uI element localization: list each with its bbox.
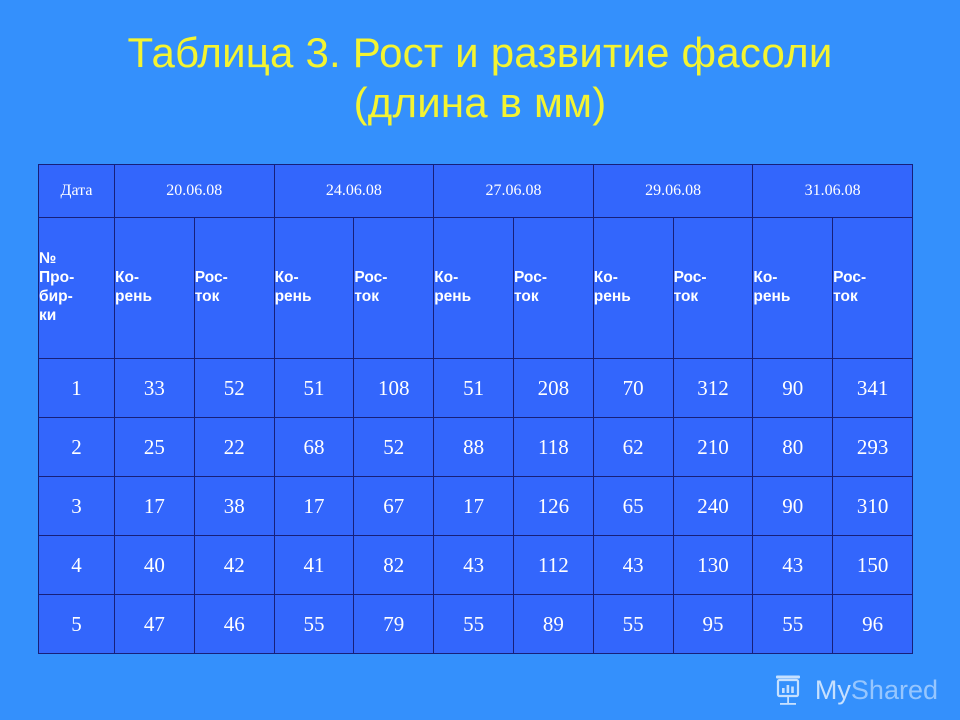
- data-cell-id: 4: [39, 536, 115, 595]
- data-cell: 62: [593, 418, 673, 477]
- data-cell: 40: [115, 536, 195, 595]
- data-cell: 88: [434, 418, 514, 477]
- data-cell: 150: [833, 536, 913, 595]
- data-cell: 55: [593, 595, 673, 654]
- data-cell: 310: [833, 477, 913, 536]
- data-cell: 46: [194, 595, 274, 654]
- data-cell: 41: [274, 536, 354, 595]
- data-cell: 51: [274, 359, 354, 418]
- data-cell: 52: [194, 359, 274, 418]
- watermark-label: MyShared: [815, 675, 938, 706]
- data-cell-id: 2: [39, 418, 115, 477]
- data-cell: 89: [513, 595, 593, 654]
- data-cell: 90: [753, 359, 833, 418]
- watermark-text-primary: My: [815, 675, 851, 705]
- data-cell: 112: [513, 536, 593, 595]
- data-cell: 55: [274, 595, 354, 654]
- table-row: 5 47 46 55 79 55 89 55 95 55 96: [39, 595, 913, 654]
- data-cell: 65: [593, 477, 673, 536]
- subheader-cell-5: Ко- рень: [434, 218, 514, 359]
- data-cell-id: 5: [39, 595, 115, 654]
- subheader-cell-1: Ко- рень: [115, 218, 195, 359]
- data-cell: 208: [513, 359, 593, 418]
- data-cell-id: 1: [39, 359, 115, 418]
- table-row: 2 25 22 68 52 88 118 62 210 80 293: [39, 418, 913, 477]
- data-cell: 51: [434, 359, 514, 418]
- data-cell: 67: [354, 477, 434, 536]
- table-row: 3 17 38 17 67 17 126 65 240 90 310: [39, 477, 913, 536]
- subheader-cell-7: Ко- рень: [593, 218, 673, 359]
- data-cell: 52: [354, 418, 434, 477]
- data-cell: 43: [434, 536, 514, 595]
- data-cell: 22: [194, 418, 274, 477]
- data-cell: 130: [673, 536, 753, 595]
- table-row: 4 40 42 41 82 43 112 43 130 43 150: [39, 536, 913, 595]
- subheader-cell-8: Рос- ток: [673, 218, 753, 359]
- data-cell: 17: [115, 477, 195, 536]
- data-cell: 33: [115, 359, 195, 418]
- data-cell: 90: [753, 477, 833, 536]
- data-cell: 42: [194, 536, 274, 595]
- data-cell: 210: [673, 418, 753, 477]
- data-cell: 68: [274, 418, 354, 477]
- data-cell: 55: [434, 595, 514, 654]
- subheader-cell-row-label: № Про- бир- ки: [39, 218, 115, 359]
- subheader-cell-6: Рос- ток: [513, 218, 593, 359]
- data-cell: 25: [115, 418, 195, 477]
- header-cell-date-5: 31.06.08: [753, 165, 913, 218]
- subheader-cell-3: Ко- рень: [274, 218, 354, 359]
- watermark: MyShared: [773, 674, 938, 706]
- header-cell-date-1: 20.06.08: [115, 165, 275, 218]
- header-cell-date-3: 27.06.08: [434, 165, 594, 218]
- header-cell-date-4: 29.06.08: [593, 165, 753, 218]
- page-title: Таблица 3. Рост и развитие фасоли (длина…: [60, 28, 900, 127]
- watermark-text-secondary: Shared: [851, 675, 938, 705]
- data-cell: 240: [673, 477, 753, 536]
- data-cell: 43: [753, 536, 833, 595]
- data-cell: 80: [753, 418, 833, 477]
- presentation-chart-icon: [773, 674, 807, 706]
- header-cell-date-2: 24.06.08: [274, 165, 434, 218]
- table-row-dates: Дата 20.06.08 24.06.08 27.06.08 29.06.08…: [39, 165, 913, 218]
- subheader-cell-4: Рос- ток: [354, 218, 434, 359]
- data-cell: 70: [593, 359, 673, 418]
- data-cell-id: 3: [39, 477, 115, 536]
- data-cell: 108: [354, 359, 434, 418]
- data-cell: 55: [753, 595, 833, 654]
- growth-table: Дата 20.06.08 24.06.08 27.06.08 29.06.08…: [38, 164, 913, 654]
- data-cell: 293: [833, 418, 913, 477]
- data-cell: 43: [593, 536, 673, 595]
- subheader-cell-2: Рос- ток: [194, 218, 274, 359]
- data-cell: 126: [513, 477, 593, 536]
- data-cell: 38: [194, 477, 274, 536]
- data-cell: 17: [274, 477, 354, 536]
- data-cell: 95: [673, 595, 753, 654]
- data-cell: 79: [354, 595, 434, 654]
- data-cell: 17: [434, 477, 514, 536]
- table-row-subheaders: № Про- бир- ки Ко- рень Рос- ток Ко- рен…: [39, 218, 913, 359]
- data-cell: 341: [833, 359, 913, 418]
- subheader-cell-10: Рос- ток: [833, 218, 913, 359]
- subheader-cell-9: Ко- рень: [753, 218, 833, 359]
- slide: Таблица 3. Рост и развитие фасоли (длина…: [0, 0, 960, 720]
- growth-table-container: Дата 20.06.08 24.06.08 27.06.08 29.06.08…: [38, 164, 912, 654]
- data-cell: 96: [833, 595, 913, 654]
- data-cell: 118: [513, 418, 593, 477]
- data-cell: 312: [673, 359, 753, 418]
- header-cell-date-label: Дата: [39, 165, 115, 218]
- table-row: 1 33 52 51 108 51 208 70 312 90 341: [39, 359, 913, 418]
- data-cell: 82: [354, 536, 434, 595]
- data-cell: 47: [115, 595, 195, 654]
